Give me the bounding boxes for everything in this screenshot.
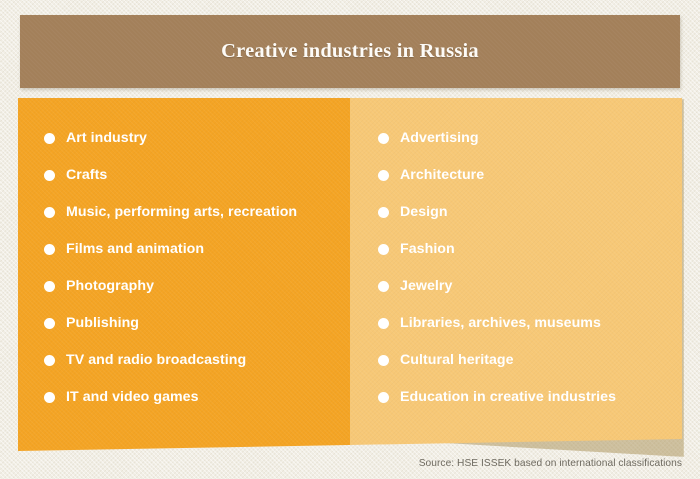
list-item-label: Jewelry xyxy=(400,279,452,293)
bullet-dot-icon xyxy=(44,281,55,292)
list-item-label: Cultural heritage xyxy=(400,353,514,367)
bullet-dot-icon xyxy=(44,133,55,144)
list-item-label: Advertising xyxy=(400,131,479,145)
list-item-label: Music, performing arts, recreation xyxy=(66,205,297,219)
list-item-label: Art industry xyxy=(66,131,147,145)
list-item[interactable]: Cultural heritage xyxy=(378,342,682,379)
list-item[interactable]: Fashion xyxy=(378,231,682,268)
bullet-dot-icon xyxy=(378,244,389,255)
list-item-label: Crafts xyxy=(66,168,107,182)
list-item-label: Fashion xyxy=(400,242,455,256)
source-caption: Source: HSE ISSEK based on international… xyxy=(419,458,682,469)
right-column: Advertising Architecture Design Fashion xyxy=(350,98,682,451)
bullet-dot-icon xyxy=(44,170,55,181)
list-item[interactable]: Libraries, archives, museums xyxy=(378,305,682,342)
bullet-dot-icon xyxy=(378,207,389,218)
list-item-label: IT and video games xyxy=(66,390,199,404)
bullet-dot-icon xyxy=(378,392,389,403)
list-item[interactable]: Music, performing arts, recreation xyxy=(44,194,350,231)
bullet-dot-icon xyxy=(378,170,389,181)
bullet-dot-icon xyxy=(44,207,55,218)
bullet-dot-icon xyxy=(378,281,389,292)
content-panel: Art industry Crafts Music, performing ar… xyxy=(18,98,682,451)
content-panel-wrapper: Art industry Crafts Music, performing ar… xyxy=(0,0,700,479)
list-item-label: Libraries, archives, museums xyxy=(400,316,601,330)
bullet-dot-icon xyxy=(378,318,389,329)
list-item[interactable]: Design xyxy=(378,194,682,231)
list-item[interactable]: Publishing xyxy=(44,305,350,342)
list-item-label: TV and radio broadcasting xyxy=(66,353,246,367)
list-item[interactable]: Architecture xyxy=(378,157,682,194)
list-item[interactable]: Crafts xyxy=(44,157,350,194)
list-item[interactable]: Photography xyxy=(44,268,350,305)
list-item-label: Architecture xyxy=(400,168,484,182)
bullet-dot-icon xyxy=(44,318,55,329)
bullet-dot-icon xyxy=(378,355,389,366)
bullet-dot-icon xyxy=(44,244,55,255)
list-item[interactable]: Advertising xyxy=(378,120,682,157)
infographic-root: Creative industries in Russia Art indust… xyxy=(0,0,700,479)
list-item[interactable]: Education in creative industries xyxy=(378,379,682,416)
list-item[interactable]: TV and radio broadcasting xyxy=(44,342,350,379)
bullet-dot-icon xyxy=(44,355,55,366)
list-item[interactable]: Jewelry xyxy=(378,268,682,305)
left-column-list: Art industry Crafts Music, performing ar… xyxy=(44,120,350,416)
list-item-label: Films and animation xyxy=(66,242,204,256)
list-item-label: Photography xyxy=(66,279,154,293)
list-item[interactable]: IT and video games xyxy=(44,379,350,416)
bullet-dot-icon xyxy=(44,392,55,403)
list-item-label: Education in creative industries xyxy=(400,390,616,404)
list-item[interactable]: Films and animation xyxy=(44,231,350,268)
left-column: Art industry Crafts Music, performing ar… xyxy=(18,98,350,451)
list-item-label: Publishing xyxy=(66,316,139,330)
list-item[interactable]: Art industry xyxy=(44,120,350,157)
bullet-dot-icon xyxy=(378,133,389,144)
right-column-list: Advertising Architecture Design Fashion xyxy=(378,120,682,416)
list-item-label: Design xyxy=(400,205,448,219)
